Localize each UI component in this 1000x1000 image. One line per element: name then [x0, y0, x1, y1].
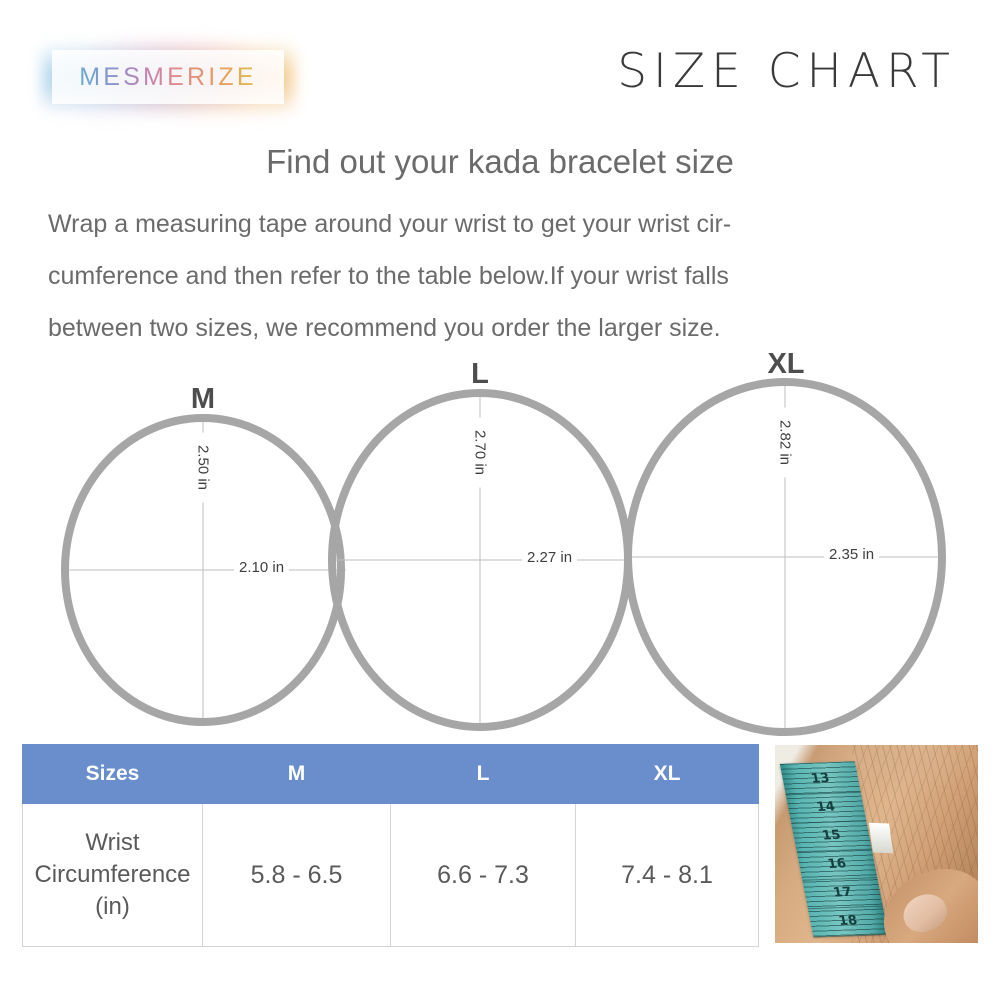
table-row-label-line-3: (in): [95, 893, 130, 920]
brand-logo: MESMERIZE: [52, 46, 284, 108]
diagram-xl-height-label: 2.82 in: [773, 408, 798, 478]
table-header-m: M: [203, 745, 391, 804]
intro-paragraph: Wrap a measuring tape around your wrist …: [48, 198, 952, 354]
photo-tape-mark-13: 13: [780, 763, 861, 795]
intro-line-2: cumference and then refer to the table b…: [48, 250, 952, 302]
diagram-m-size-label: M: [168, 383, 238, 416]
table-cell-m: 5.8 - 6.5: [203, 804, 391, 947]
diagram-l-width-label: 2.27 in: [522, 549, 577, 566]
diagram-xl-width-label: 2.35 in: [824, 546, 879, 563]
table-cell-xl: 7.4 - 8.1: [576, 804, 759, 947]
page-title: SIZE CHART: [617, 44, 956, 99]
wrist-measurement-photo: 13 14 15 16 17 18: [775, 745, 978, 943]
photo-tape-mark-15: 15: [791, 820, 872, 852]
table-row-label: Wrist Circumference (in): [23, 804, 203, 947]
table-header-row: Sizes M L XL: [23, 745, 759, 804]
table-row-label-line-1: Wrist: [85, 829, 139, 856]
table-header-l: L: [391, 745, 576, 804]
table-row: Wrist Circumference (in) 5.8 - 6.5 6.6 -…: [23, 804, 759, 947]
diagram-l-height-label: 2.70 in: [468, 418, 493, 488]
diagram-xl-size-label: XL: [750, 348, 822, 381]
table-header-xl: XL: [576, 745, 759, 804]
photo-tape-mark-14: 14: [786, 792, 867, 824]
intro-line-3: between two sizes, we recommend you orde…: [48, 302, 952, 354]
intro-line-1: Wrap a measuring tape around your wrist …: [48, 198, 952, 250]
photo-tape-clip: [869, 823, 893, 853]
photo-tape-mark-18: 18: [808, 906, 889, 938]
photo-tape-mark-17: 17: [802, 877, 883, 909]
table-header-sizes: Sizes: [23, 745, 203, 804]
photo-tape-mark-16: 16: [797, 849, 878, 881]
size-table: Sizes M L XL Wrist Circumference (in) 5.…: [22, 744, 759, 947]
brand-logo-text: MESMERIZE: [52, 50, 284, 104]
diagram-l-size-label: L: [445, 358, 515, 391]
table-row-label-line-2: Circumference: [34, 861, 190, 888]
intro-heading: Find out your kada bracelet size: [0, 143, 1000, 181]
diagram-m-width-label: 2.10 in: [234, 559, 289, 576]
table-cell-l: 6.6 - 7.3: [391, 804, 576, 947]
diagram-m-height-label: 2.50 in: [191, 433, 216, 503]
